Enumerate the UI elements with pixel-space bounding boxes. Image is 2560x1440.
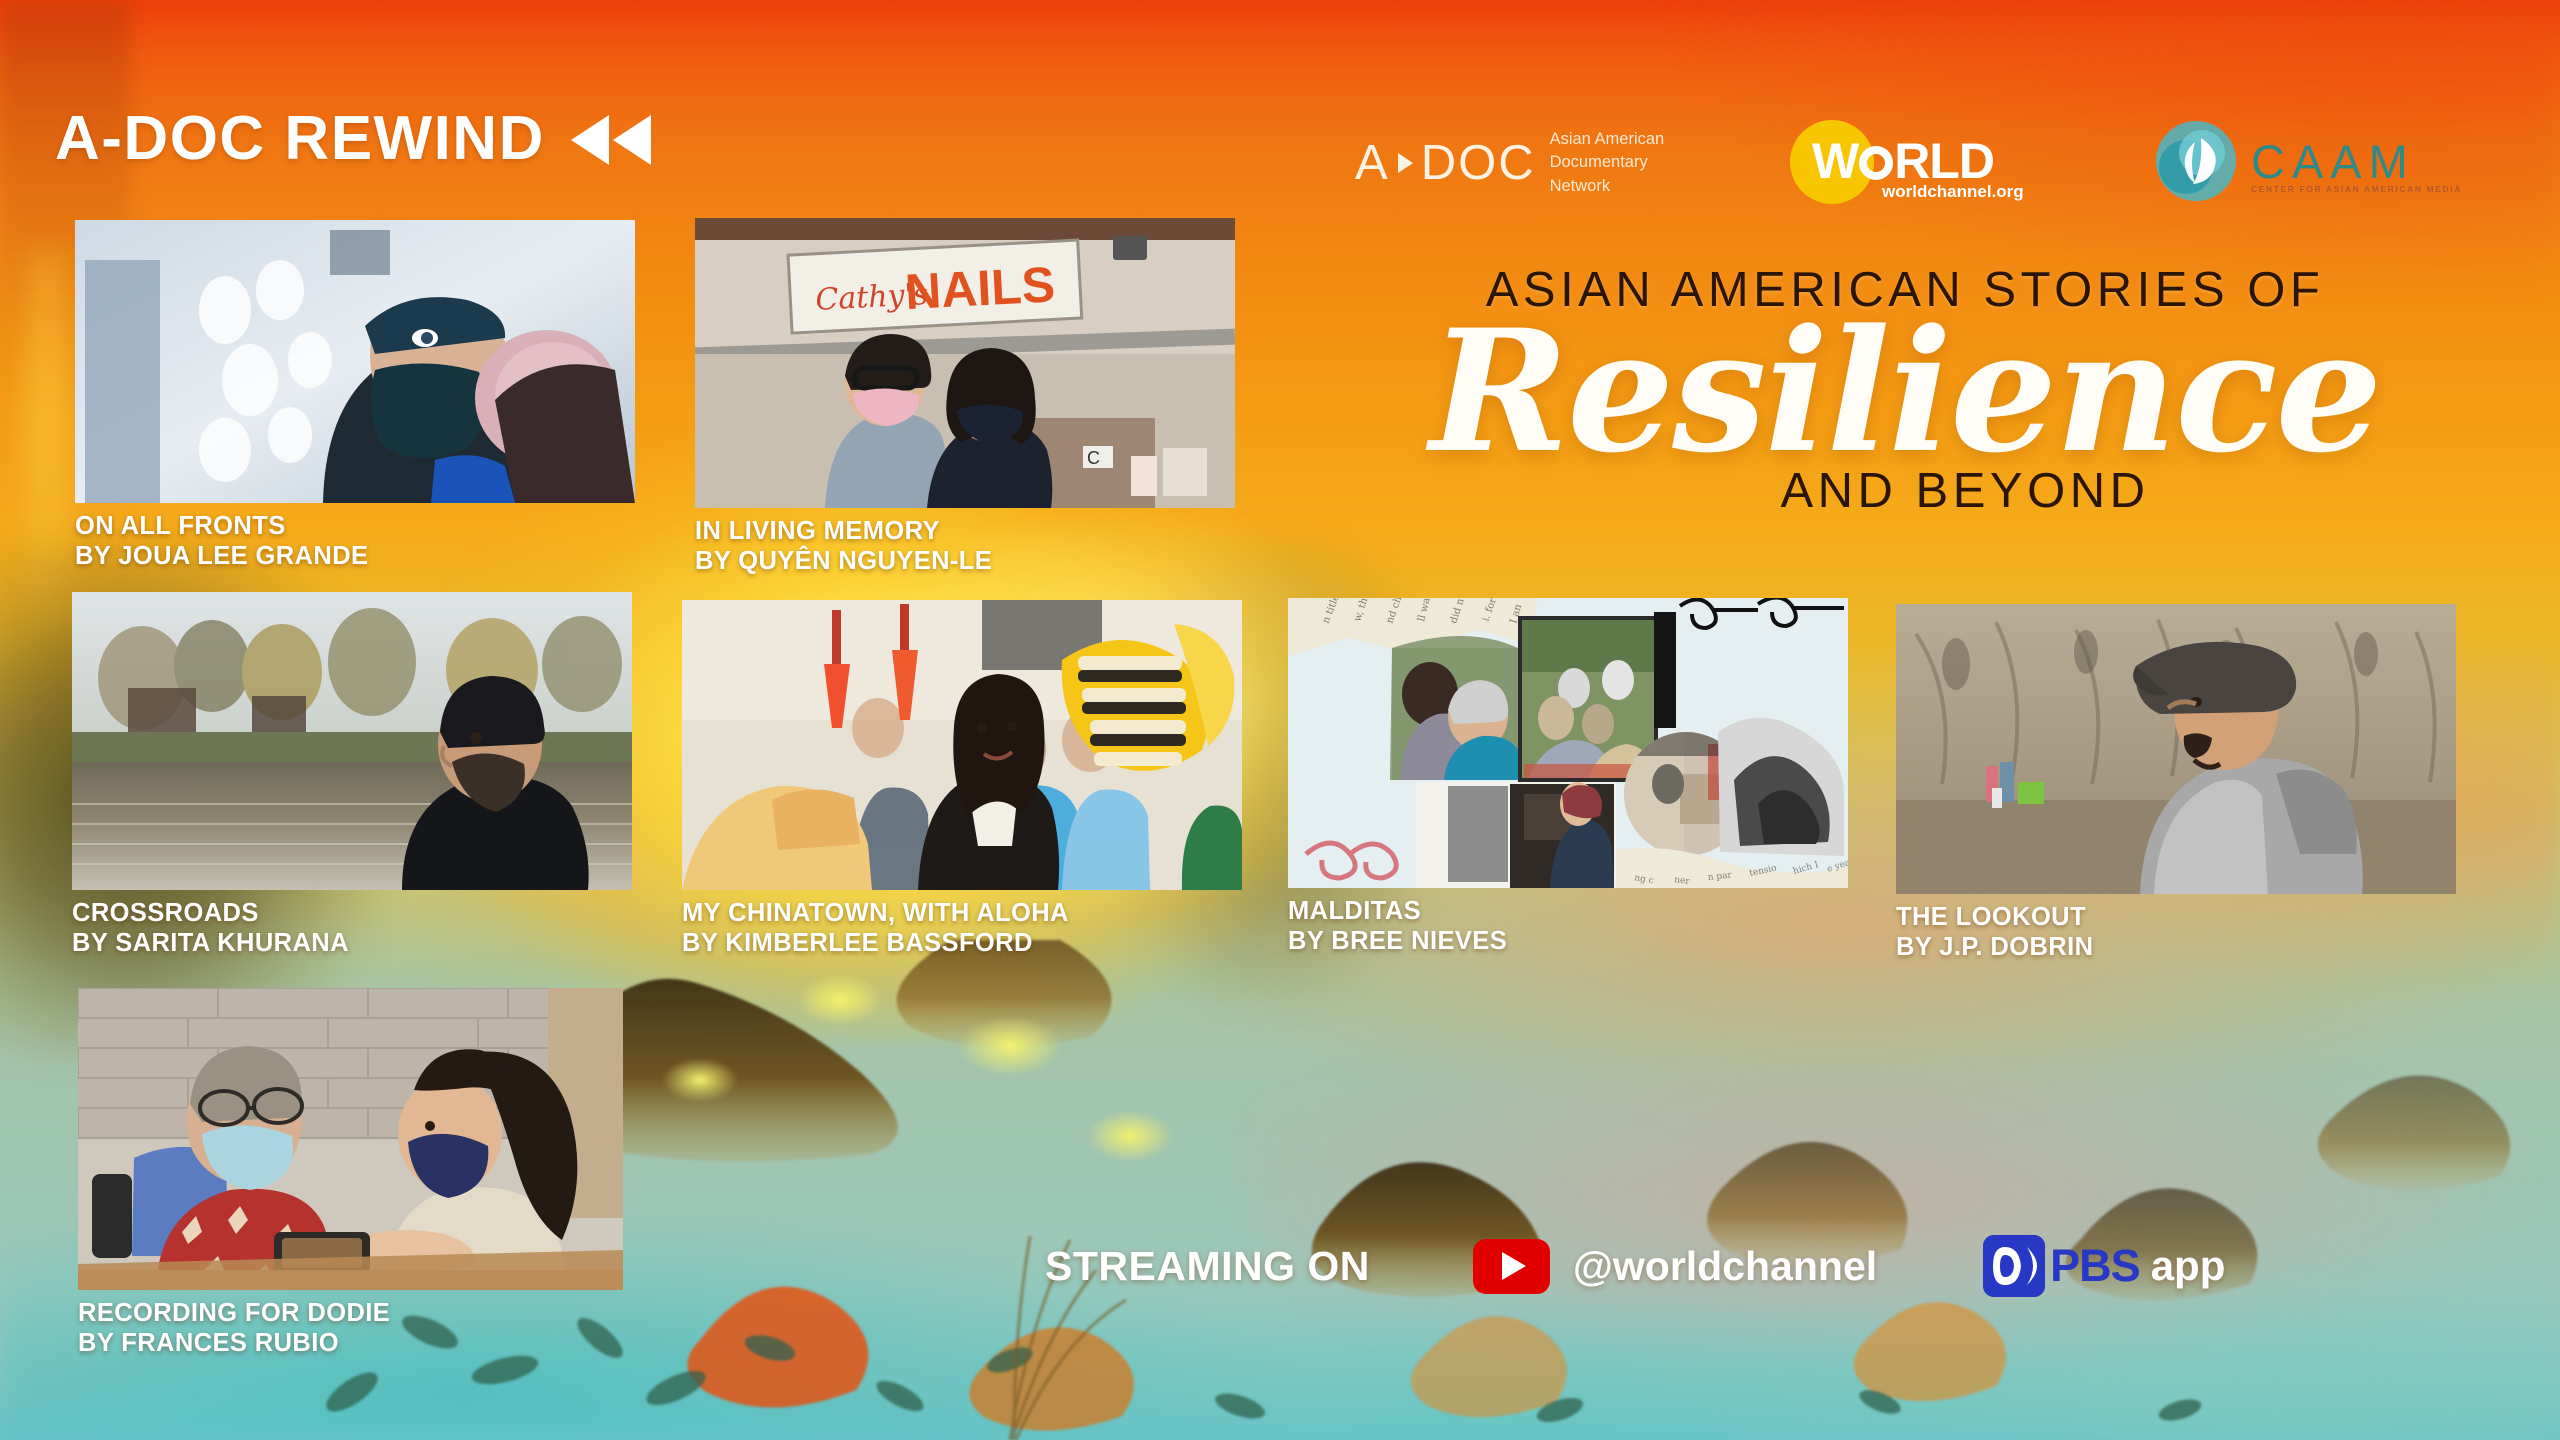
world-letter-w: W bbox=[1812, 133, 1858, 189]
film-title-recording-for-dodie: RECORDING FOR DODIE bbox=[78, 1299, 623, 1329]
svg-text:NAILS: NAILS bbox=[904, 256, 1057, 320]
page-title-text: A-DOC REWIND bbox=[55, 103, 545, 174]
film-thumbnail-recording-for-dodie[interactable] bbox=[78, 988, 623, 1290]
film-card-recording-for-dodie[interactable]: RECORDING FOR DODIE BY FRANCES RUBIO bbox=[78, 988, 623, 1358]
film-thumbnail-on-all-fronts[interactable] bbox=[75, 220, 635, 503]
page-title: A-DOC REWIND bbox=[55, 103, 653, 174]
adoc-subtitle-line2: Documentary bbox=[1550, 151, 1665, 174]
caam-subtitle: CENTER FOR ASIAN AMERICAN MEDIA bbox=[2251, 184, 2462, 194]
film-title-in-living-memory: IN LIVING MEMORY bbox=[695, 517, 1235, 547]
adoc-wordmark: A DOC bbox=[1355, 135, 1536, 191]
pbs-app-logo[interactable]: PBS app bbox=[1983, 1235, 2225, 1297]
adoc-letter-a: A bbox=[1355, 135, 1390, 191]
world-channel-logo: WRLD worldchannel.org bbox=[1790, 120, 2080, 204]
film-card-on-all-fronts[interactable]: ON ALL FRONTS BY JOUA LEE GRANDE bbox=[75, 220, 635, 571]
world-url: worldchannel.org bbox=[1882, 182, 2024, 202]
hero-script-word: Resilience bbox=[1280, 314, 2530, 469]
adoc-subtitle-line1: Asian American bbox=[1550, 128, 1665, 151]
pbs-app-label: app bbox=[2151, 1242, 2226, 1290]
caam-wordmark: CAAM bbox=[2251, 134, 2415, 189]
film-thumbnail-the-lookout[interactable] bbox=[1896, 604, 2456, 894]
film-byline-on-all-fronts: BY JOUA LEE GRANDE bbox=[75, 542, 635, 572]
film-byline-crossroads: BY SARITA KHURANA bbox=[72, 929, 632, 959]
youtube-play-icon[interactable] bbox=[1473, 1239, 1550, 1294]
film-card-in-living-memory[interactable]: Cathy's NAILS C bbox=[695, 218, 1235, 576]
film-title-the-lookout: THE LOOKOUT bbox=[1896, 903, 2456, 933]
poster-canvas: A-DOC REWIND A DOC Asian American Docume… bbox=[0, 0, 2560, 1440]
adoc-subtitle: Asian American Documentary Network bbox=[1550, 128, 1665, 198]
world-letter-o-ring-icon bbox=[1859, 146, 1893, 180]
film-byline-malditas: BY BREE NIEVES bbox=[1288, 927, 1848, 957]
caam-circle-icon bbox=[2155, 120, 2237, 202]
film-title-my-chinatown: MY CHINATOWN, WITH ALOHA bbox=[682, 899, 1242, 929]
film-thumbnail-in-living-memory[interactable]: Cathy's NAILS C bbox=[695, 218, 1235, 508]
streaming-footer: STREAMING ON @worldchannel PBS app bbox=[1045, 1235, 2225, 1297]
film-thumbnail-crossroads[interactable] bbox=[72, 592, 632, 890]
play-triangle-icon bbox=[1398, 153, 1413, 173]
film-card-my-chinatown[interactable]: MY CHINATOWN, WITH ALOHA BY KIMBERLEE BA… bbox=[682, 600, 1242, 958]
youtube-handle[interactable]: @worldchannel bbox=[1573, 1243, 1877, 1290]
film-card-the-lookout[interactable]: THE LOOKOUT BY J.P. DOBRIN bbox=[1896, 604, 2456, 962]
world-letters-rld: RLD bbox=[1894, 133, 1994, 189]
film-byline-recording-for-dodie: BY FRANCES RUBIO bbox=[78, 1329, 623, 1359]
film-thumbnail-malditas[interactable]: n title– w, ther nd chaf ll wat did n i.… bbox=[1288, 598, 1848, 888]
adoc-subtitle-line3: Network bbox=[1550, 175, 1665, 198]
film-title-malditas: MALDITAS bbox=[1288, 897, 1848, 927]
pbs-wordmark: PBS bbox=[2050, 1240, 2140, 1292]
film-card-crossroads[interactable]: CROSSROADS BY SARITA KHURANA bbox=[72, 592, 632, 958]
streaming-label: STREAMING ON bbox=[1045, 1243, 1370, 1290]
film-byline-in-living-memory: BY QUYÊN NGUYEN-LE bbox=[695, 547, 1235, 577]
hero-title-block: ASIAN AMERICAN STORIES OF Resilience AND… bbox=[1280, 262, 2530, 519]
adoc-letters-doc: DOC bbox=[1421, 135, 1536, 191]
youtube-triangle-icon bbox=[1502, 1252, 1526, 1280]
caam-logo: CAAM CENTER FOR ASIAN AMERICAN MEDIA bbox=[2155, 120, 2415, 202]
svg-text:C: C bbox=[1087, 448, 1100, 468]
film-byline-the-lookout: BY J.P. DOBRIN bbox=[1896, 933, 2456, 963]
pbs-head-icon bbox=[1983, 1235, 2045, 1297]
film-title-on-all-fronts: ON ALL FRONTS bbox=[75, 512, 635, 542]
film-title-crossroads: CROSSROADS bbox=[72, 899, 632, 929]
film-thumbnail-my-chinatown[interactable] bbox=[682, 600, 1242, 890]
film-card-malditas[interactable]: n title– w, ther nd chaf ll wat did n i.… bbox=[1288, 598, 1848, 956]
adoc-logo: A DOC Asian American Documentary Network bbox=[1355, 128, 1664, 198]
rewind-icon bbox=[567, 113, 653, 167]
film-byline-my-chinatown: BY KIMBERLEE BASSFORD bbox=[682, 929, 1242, 959]
